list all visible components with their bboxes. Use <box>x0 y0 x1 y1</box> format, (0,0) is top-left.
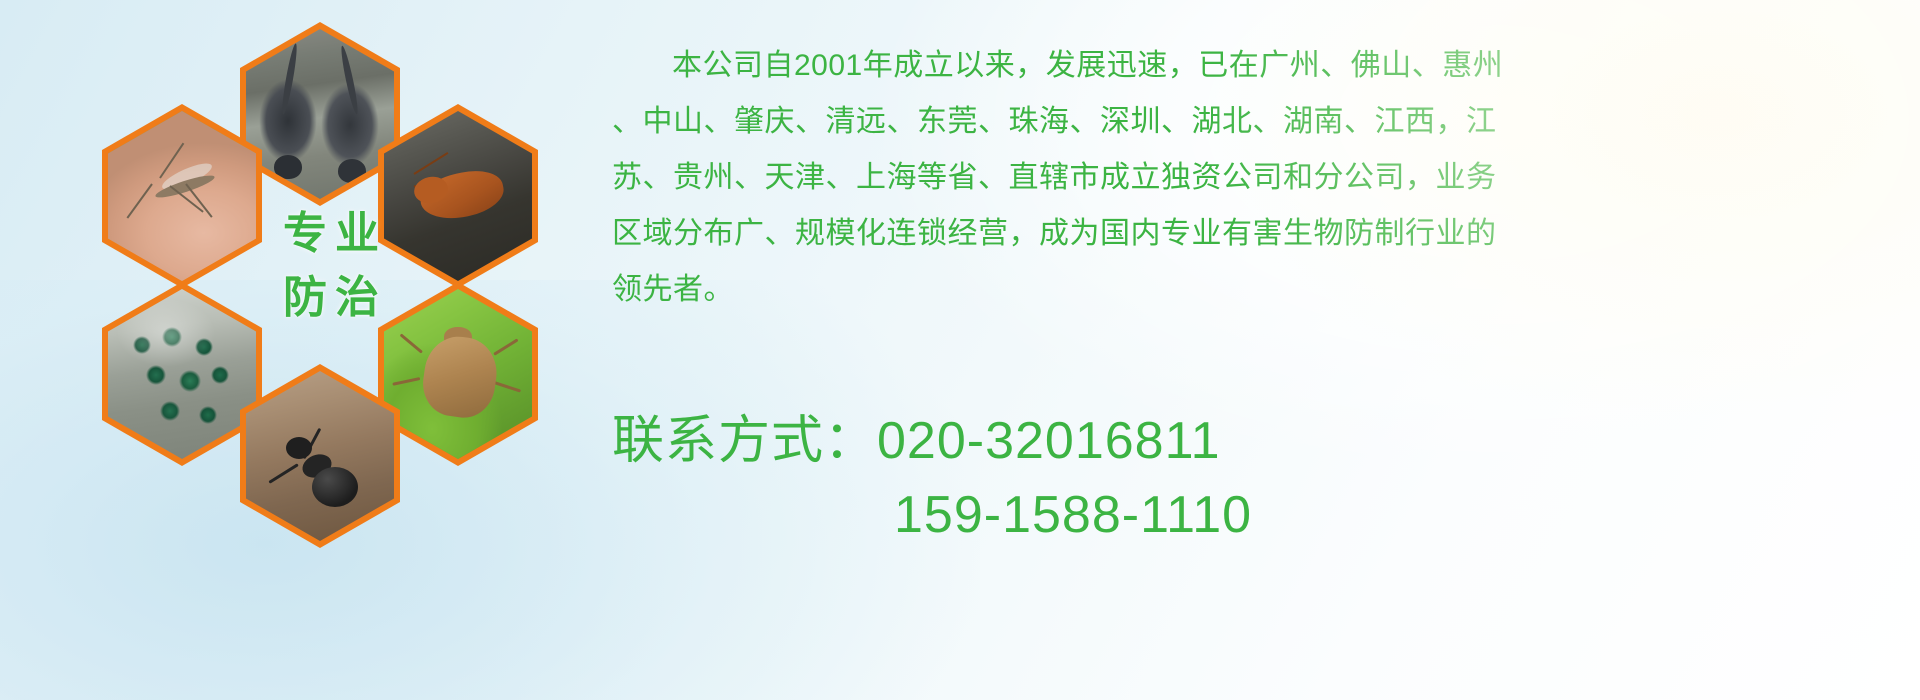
cockroach-image <box>384 111 532 281</box>
hex-shield-bug-inner <box>384 289 532 459</box>
intro-copy-block: 本公司自2001年成立以来，发展迅速，已在广州、佛山、惠州 、中山、肇庆、清远、… <box>612 38 1870 318</box>
bug-body <box>419 332 501 421</box>
hex-flies-photo[interactable] <box>102 282 262 466</box>
contact-phone-secondary[interactable]: 159-1588-1110 <box>612 478 1870 552</box>
bug-leg-1 <box>400 333 423 353</box>
hex-rats-inner <box>246 29 394 199</box>
intro-line-4: 区域分布广、规模化连锁经营，成为国内专业有害生物防制行业的 <box>612 206 1870 262</box>
bug-leg-2 <box>392 377 420 386</box>
rat-head-left <box>274 155 302 179</box>
cockroach-antenna-upper <box>413 152 448 175</box>
promo-banner: 专业 防治 本公司自2001年成立以来，发展迅速，已在广州、佛山、惠州 、中山、… <box>0 0 1920 700</box>
shield-bug-image <box>384 289 532 459</box>
intro-line-1: 本公司自2001年成立以来，发展迅速，已在广州、佛山、惠州 <box>612 38 1870 94</box>
hex-cockroach-photo[interactable] <box>378 104 538 288</box>
hex-cockroach-inner <box>384 111 532 281</box>
intro-line-2: 、中山、肇庆、清远、东莞、珠海、深圳、湖北、湖南、江西，江 <box>612 94 1870 150</box>
intro-line-5: 领先者。 <box>612 262 1870 318</box>
hex-rats-photo[interactable] <box>240 22 400 206</box>
rats-image <box>246 29 394 199</box>
hex-flies-inner <box>108 289 256 459</box>
bug-leg-4 <box>494 381 522 393</box>
hex-ant-photo[interactable] <box>240 364 400 548</box>
intro-line-3: 苏、贵州、天津、上海等省、直辖市成立独资公司和分公司，业务 <box>612 150 1870 206</box>
mosquito-legs <box>108 111 256 281</box>
mosquito-image <box>108 111 256 281</box>
bug-leg-3 <box>493 338 518 355</box>
flies-image <box>108 289 256 459</box>
flies-highlight <box>108 289 256 459</box>
rat-tail-left <box>280 43 299 115</box>
hex-ant-inner <box>246 371 394 541</box>
ant-leg-3 <box>268 463 298 484</box>
ant-head <box>286 437 312 459</box>
ant-abdomen <box>312 467 358 507</box>
contact-block: 联系方式：020-32016811 159-1588-1110 <box>612 404 1870 552</box>
contact-phone-primary[interactable]: 联系方式：020-32016811 <box>612 404 1870 478</box>
hex-mosquito-inner <box>108 111 256 281</box>
hex-mosquito-photo[interactable] <box>102 104 262 288</box>
rat-tail-right <box>339 45 360 115</box>
hex-shield-bug-photo[interactable] <box>378 282 538 466</box>
rat-head-right <box>338 159 366 183</box>
intro-paragraph: 本公司自2001年成立以来，发展迅速，已在广州、佛山、惠州 、中山、肇庆、清远、… <box>612 38 1870 318</box>
ant-image <box>246 371 394 541</box>
hexagon-photo-cluster <box>88 8 588 568</box>
